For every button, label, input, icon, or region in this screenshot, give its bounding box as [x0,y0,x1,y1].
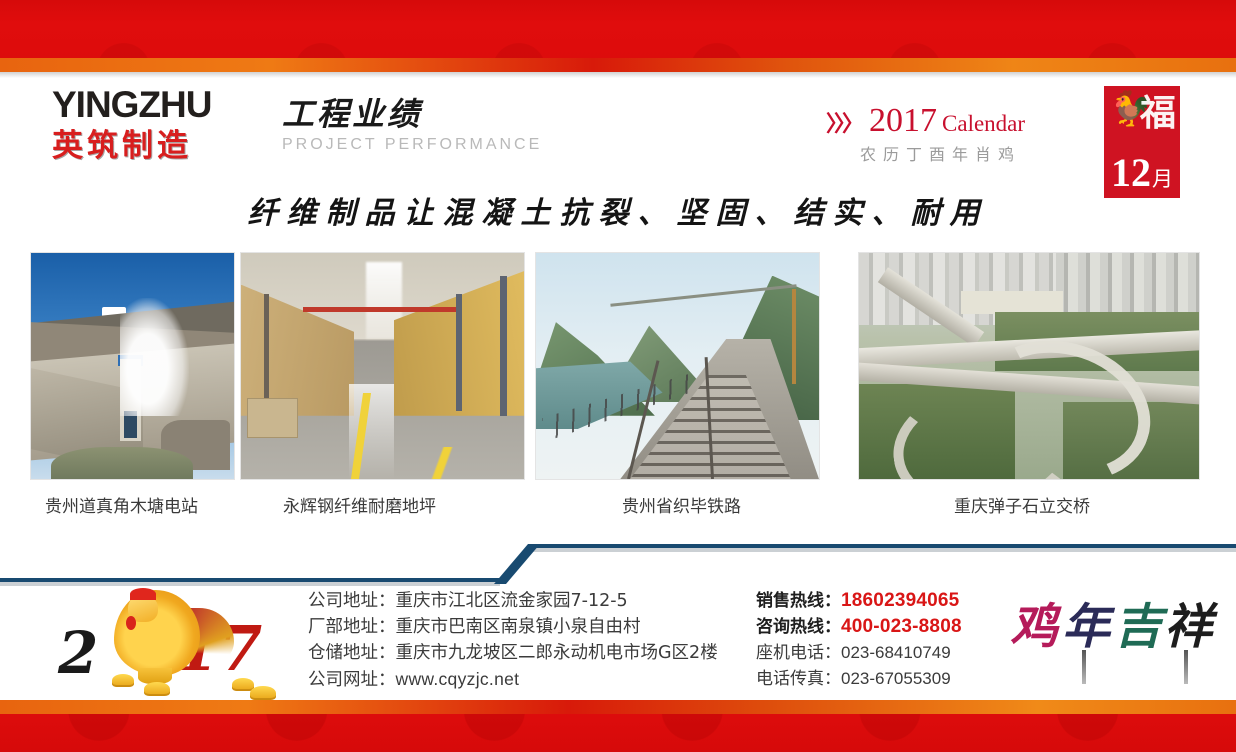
badge-art: 🐓 福 [1104,86,1180,148]
contact-label: 座机电话： [756,643,841,663]
contact-line: 电话传真：023-67055309 [756,666,962,692]
greeting-char: 年 [1062,600,1110,654]
top-red-banner [0,0,1236,58]
section-title: 工程业绩 PROJECT PERFORMANCE [282,94,542,154]
contact-label: 咨询热线： [756,617,841,637]
dam-scene [31,253,234,479]
contact-label: 销售热线： [756,591,841,611]
header: YINGZHU 英筑制造 工程业绩 PROJECT PERFORMANCE 〉〉… [0,78,1236,190]
greeting-char: 鸡 [1010,600,1058,654]
bottom-orange-stripe [0,700,1236,714]
calendar-word: Calendar [942,111,1025,136]
gold-ingot-icon [112,674,134,687]
calendar-lunar: 农历丁酉年肖鸡 [826,141,1025,165]
warehouse-scene [241,253,524,479]
contact-line: 座机电话：023-68410749 [756,640,962,666]
photo-railway-construction [535,252,820,480]
interchange-scene [859,253,1199,479]
photo-caption: 重庆弹子石立交桥 [954,492,1090,517]
contact-value: 023-67055309 [841,669,951,688]
contact-label: 电话传真： [756,669,841,689]
greeting-calligraphy: 鸡 年 吉 祥 [1008,590,1216,694]
address-list: 公司地址：重庆市江北区流金家园7-12-5 厂部地址：重庆市巴南区南泉镇小泉自由… [308,588,718,693]
photo-warehouse-flooring [240,252,525,480]
top-orange-stripe [0,58,1236,72]
footer: 2 17 公司地址：重庆市江北区流金家园7-12-5 厂部地址：重庆市巴南区南泉… [0,586,1236,698]
month-badge: 🐓 福 12月 [1104,86,1180,198]
calendar-year-row: 〉〉〉2017Calendar [826,102,1025,140]
rooster-wattle-icon [126,616,136,630]
year-rooster-artwork: 2 17 [26,590,288,698]
logo-chinese-text: 英筑制造 [52,128,232,164]
contact-list: 销售热线：18602394065 咨询热线：400-023-8808 座机电话：… [756,588,962,692]
photo-row [0,252,1236,480]
company-logo: YINGZHU 英筑制造 [52,84,232,164]
photo-dam-hydropower-station [30,252,235,480]
railway-scene [536,253,819,479]
website-url[interactable]: www.cqyzjc.net [396,669,520,689]
contact-value[interactable]: 400-023-8808 [841,616,962,637]
calendar-label: 〉〉〉2017Calendar 农历丁酉年肖鸡 [826,102,1025,165]
address-line: 公司地址：重庆市江北区流金家园7-12-5 [308,588,718,614]
contact-line: 销售热线：18602394065 [756,588,962,614]
photo-highway-interchange [858,252,1200,480]
section-title-en: PROJECT PERFORMANCE [282,136,542,154]
contact-value[interactable]: 18602394065 [841,590,959,611]
gold-ingot-icon [250,686,276,700]
contact-value: 023-68410749 [841,643,951,662]
address-line: 厂部地址：重庆市巴南区南泉镇小泉自由村 [308,614,718,640]
gold-ingot-icon [144,682,170,696]
calendar-page: YINGZHU 英筑制造 工程业绩 PROJECT PERFORMANCE 〉〉… [0,0,1236,752]
rooster-comb-icon [130,588,156,600]
section-divider [0,532,1236,592]
contact-line: 咨询热线：400-023-8808 [756,614,962,640]
photo-captions: 贵州道真角木塘电站 永辉钢纤维耐磨地坪 贵州省织毕铁路 重庆弹子石立交桥 [0,492,1236,518]
greeting-char: 祥 [1164,600,1212,654]
photo-caption: 永辉钢纤维耐磨地坪 [283,492,436,517]
year-art-left: 2 [58,624,98,682]
section-title-cn: 工程业绩 [282,94,542,134]
logo-latin-text: YINGZHU [52,84,232,126]
address-line: 仓储地址：重庆市九龙坡区二郎永动机电市场G区2楼 [308,640,718,666]
photo-caption: 贵州道真角木塘电站 [45,492,198,517]
greeting-char: 吉 [1114,600,1162,654]
website-line: 公司网址：www.cqyzjc.net [308,666,718,693]
bottom-red-banner [0,714,1236,752]
brush-stroke [1184,650,1188,684]
website-label: 公司网址： [308,670,396,690]
photo-caption: 贵州省织毕铁路 [622,492,741,517]
fu-character: 福 [1140,94,1176,132]
calendar-year: 2017 [869,102,937,139]
brush-stroke [1082,650,1086,684]
chevrons-icon: 〉〉〉 [826,111,861,136]
headline-slogan: 纤维制品让混凝土抗裂、坚固、结实、耐用 [0,188,1236,232]
